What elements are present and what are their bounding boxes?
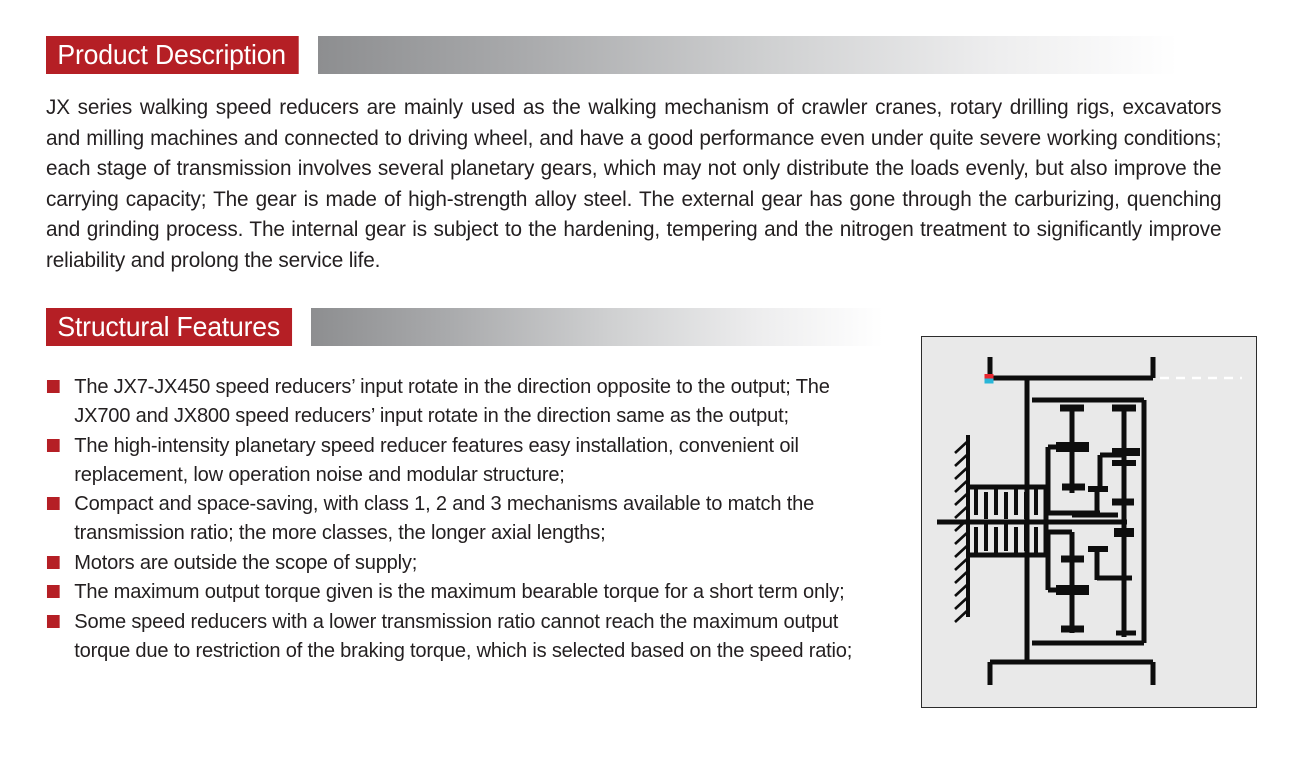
- square-bullet-icon: [47, 439, 60, 452]
- list-item-text: Motors are outside the scope of supply;: [74, 551, 417, 574]
- product-description-body: JX series walking speed reducers are mai…: [46, 92, 1221, 275]
- header-gradient-bar: [311, 308, 933, 346]
- cyan-marker-icon: [985, 379, 994, 384]
- gear-schematic-svg: [922, 337, 1255, 706]
- product-description-header: Product Description: [46, 36, 1253, 74]
- lower-brake-plates: [976, 523, 1036, 555]
- product-description-title: Product Description: [46, 36, 298, 74]
- list-item: The maximum output torque given is the m…: [46, 577, 855, 606]
- header-gradient-bar: [318, 36, 1253, 74]
- structural-features-title: Structural Features: [46, 308, 292, 346]
- list-item-text: The high-intensity planetary speed reduc…: [74, 434, 799, 486]
- planetary-gear-schematic-diagram: [921, 336, 1257, 708]
- list-item-text: The maximum output torque given is the m…: [74, 580, 844, 603]
- square-bullet-icon: [47, 585, 60, 598]
- square-bullet-icon: [47, 380, 60, 393]
- list-item-text: The JX7-JX450 speed reducers’ input rota…: [74, 375, 829, 427]
- square-bullet-icon: [47, 556, 60, 569]
- list-item: The JX7-JX450 speed reducers’ input rota…: [46, 372, 855, 430]
- square-bullet-icon: [47, 497, 60, 510]
- list-item: The high-intensity planetary speed reduc…: [46, 431, 855, 489]
- square-bullet-icon: [47, 615, 60, 628]
- structural-features-list: The JX7-JX450 speed reducers’ input rota…: [46, 372, 855, 665]
- list-item: Compact and space-saving, with class 1, …: [46, 489, 855, 547]
- structural-features-header: Structural Features: [46, 308, 933, 346]
- list-item-text: Some speed reducers with a lower transmi…: [74, 610, 852, 662]
- list-item: Motors are outside the scope of supply;: [46, 548, 855, 577]
- list-item-text: Compact and space-saving, with class 1, …: [74, 492, 814, 544]
- list-item: Some speed reducers with a lower transmi…: [46, 607, 855, 665]
